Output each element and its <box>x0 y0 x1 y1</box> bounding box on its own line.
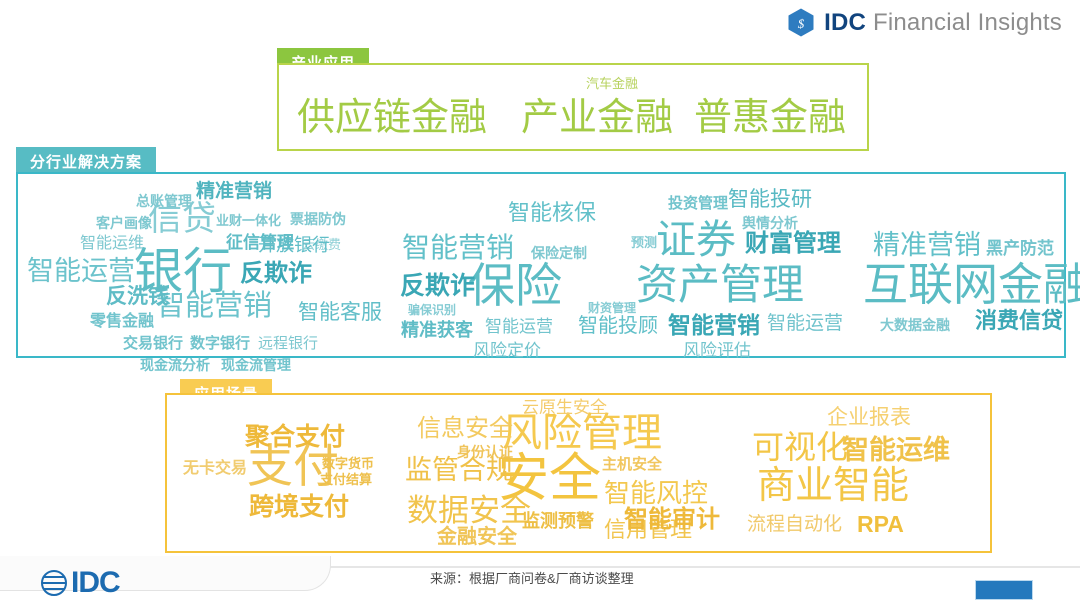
industry-solution-word: 智能营销 <box>402 234 514 262</box>
application-scenario-word: 无卡交易 <box>183 461 247 477</box>
industry-solution-word: 精准营销 <box>196 182 272 201</box>
industry-solution-word: 风险评估 <box>683 342 751 359</box>
industry-solution-word: 反欺诈 <box>400 274 475 299</box>
slide-canvas: $ IDC Financial Insights 产业应用 供应链金融产业金融汽… <box>0 0 1080 608</box>
industry-solution-word: 精准营销 <box>873 232 981 259</box>
industry-solution-word: 黑产防范 <box>986 240 1054 257</box>
brand-title-bold: IDC <box>824 9 866 36</box>
application-scenario-word: 智能审计 <box>624 508 720 532</box>
application-scenario-word: 监测预警 <box>522 512 594 530</box>
wordcloud-industry-solutions: 银行智能运营智能营销信贷反欺诈精准营销总账管理客户画像智能运维业财一体化票据防伪… <box>18 174 1064 356</box>
industry-solution-word: 精准获客 <box>401 321 473 339</box>
page-accent-chip <box>975 580 1033 600</box>
industry-solution-word: 证券 <box>656 220 736 260</box>
industry-solution-word: 反洗钱 <box>106 286 169 307</box>
industry-solution-word: 骗保识别 <box>408 304 456 316</box>
industry-solution-word: 反欺诈 <box>240 262 312 286</box>
panel-application-scenarios: 安全风险管理支付聚合支付无卡交易数字货币支付结算跨境支付信息安全身份认证云原生安… <box>165 393 992 553</box>
idc-brand-header: $ IDC Financial Insights <box>788 8 1062 37</box>
industry-application-word: 产业金融 <box>521 99 673 137</box>
industry-solution-word: 智能营销 <box>156 292 272 321</box>
application-scenario-word: 监管合规 <box>405 457 513 484</box>
industry-solution-word: 智能投顾 <box>578 316 658 336</box>
application-scenario-word: 聚合支付 <box>245 425 345 450</box>
industry-application-word: 汽车金融 <box>586 77 638 90</box>
industry-solution-word: 智能客服 <box>298 302 382 323</box>
application-scenario-word: 云原生安全 <box>522 399 607 416</box>
application-scenario-word: 金融安全 <box>437 527 517 547</box>
industry-solution-word: 票据防伪 <box>290 212 346 226</box>
industry-application-word: 供应链金融 <box>297 99 487 137</box>
brand-title-rest: Financial Insights <box>866 9 1062 36</box>
industry-solution-word: 保险定制 <box>531 246 587 260</box>
panel-industry-application: 供应链金融产业金融汽车金融普惠金融 <box>277 63 869 151</box>
application-scenario-word: 数字货币 <box>322 457 374 470</box>
industry-solution-word: 客户画像 <box>96 216 152 230</box>
brand-title: IDC Financial Insights <box>824 9 1062 37</box>
application-scenario-word: 跨境支付 <box>249 495 349 520</box>
industry-solution-word: 财富管理 <box>745 232 841 256</box>
industry-solution-word: 远程银行 <box>258 336 318 351</box>
industry-solution-word: 财资管理 <box>588 302 636 314</box>
idc-hexagon-logo-icon: $ <box>788 8 814 37</box>
industry-solution-word: 交易银行 <box>123 336 183 351</box>
industry-solution-word: 智能营销 <box>668 314 760 337</box>
industry-solution-word: 开放银行 <box>258 236 330 254</box>
application-scenario-word: 数据安全 <box>407 495 531 526</box>
industry-solution-word: 消费信贷 <box>975 310 1063 332</box>
source-note: 来源：根据厂商问卷&厂商访谈整理 <box>430 568 634 587</box>
industry-solution-word: 舆情分析 <box>742 216 798 230</box>
industry-solution-word: 资产管理 <box>636 264 804 306</box>
application-scenario-word: 风险管理 <box>502 413 662 453</box>
wordcloud-application-scenarios: 安全风险管理支付聚合支付无卡交易数字货币支付结算跨境支付信息安全身份认证云原生安… <box>167 395 990 551</box>
industry-solution-word: 风险定价 <box>473 342 541 359</box>
application-scenario-word: 智能风控 <box>604 480 708 506</box>
application-scenario-word: 智能运维 <box>842 437 950 464</box>
idc-footer-logo-text: IDC <box>71 566 120 600</box>
industry-solution-word: 保险 <box>468 262 562 309</box>
application-scenario-word: 企业报表 <box>827 407 911 428</box>
wordcloud-industry-application: 供应链金融产业金融汽车金融普惠金融 <box>279 65 867 149</box>
application-scenario-word: 流程自动化 <box>747 515 842 534</box>
svg-text:$: $ <box>798 16 805 31</box>
industry-solution-word: 智能运营 <box>27 258 135 285</box>
application-scenario-word: RPA <box>857 513 904 536</box>
application-scenario-word: 可视化 <box>752 431 848 463</box>
application-scenario-word: 信息安全 <box>417 417 513 441</box>
application-scenario-word: 主机安全 <box>602 457 662 472</box>
industry-solution-word: 智能运维 <box>80 236 144 252</box>
industry-solution-word: 投资管理 <box>668 196 728 211</box>
application-scenario-word: 支付结算 <box>320 473 372 486</box>
idc-footer-logo: IDC <box>40 566 120 600</box>
industry-solution-word: 业财一体化 <box>216 214 281 227</box>
industry-solution-word: 大数据金融 <box>880 318 950 332</box>
industry-solution-word: 数字银行 <box>190 336 250 351</box>
industry-solution-word: 总账管理 <box>136 194 192 208</box>
panel-industry-solutions: 银行智能运营智能营销信贷反欺诈精准营销总账管理客户画像智能运维业财一体化票据防伪… <box>16 172 1066 358</box>
industry-solution-word: 智能运营 <box>485 318 553 335</box>
idc-globe-logo-icon <box>40 569 68 597</box>
industry-solution-word: 现金流分析 <box>140 358 210 372</box>
industry-solution-word: 智能投研 <box>728 189 812 210</box>
industry-application-word: 普惠金融 <box>694 99 846 137</box>
industry-solution-word: 智能核保 <box>508 202 596 224</box>
industry-solution-word: 零售金融 <box>90 314 154 330</box>
industry-solution-word: 现金流管理 <box>221 358 291 372</box>
application-scenario-word: 商业智能 <box>757 467 909 505</box>
industry-solution-word: 预测 <box>631 236 657 249</box>
industry-solution-word: 智能运营 <box>767 314 843 333</box>
industry-solution-word: 互联网金融 <box>863 262 1080 307</box>
